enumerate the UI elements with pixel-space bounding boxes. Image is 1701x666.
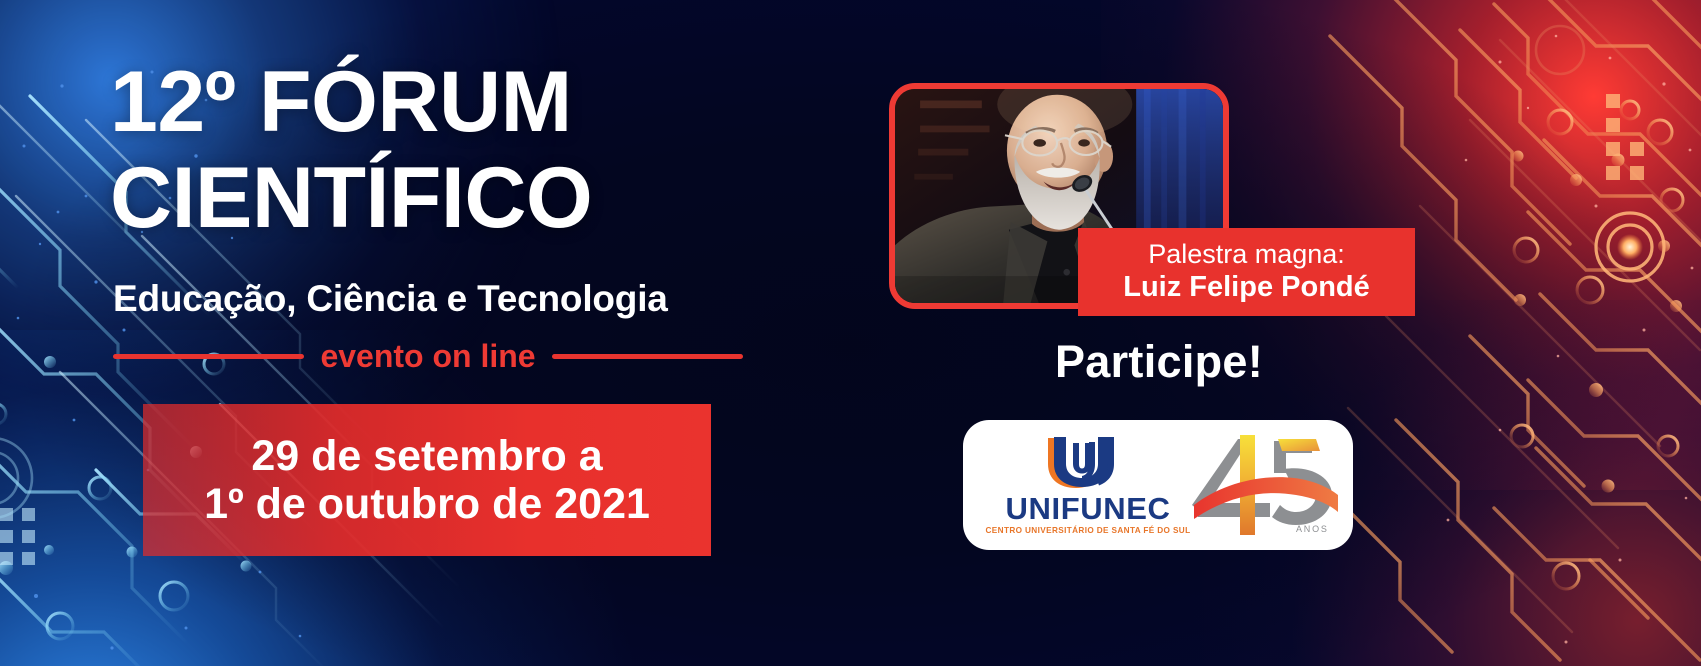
institution-logo-card: UNIFUNEC CENTRO UNIVERSITÁRIO DE SANTA F… [963,420,1353,550]
event-title-line-1: 12º FÓRUM [110,60,572,144]
unifunec-tagline: CENTRO UNIVERSITÁRIO DE SANTA FÉ DO SUL [986,527,1191,535]
event-date-line-2: 1º de outubro de 2021 [204,480,650,528]
event-headline-block: 12º FÓRUM CIENTÍFICO Educação, Ciência e… [0,0,760,666]
speaker-name-tag: Palestra magna: Luiz Felipe Pondé [1078,228,1415,316]
event-promo-banner: 12º FÓRUM CIENTÍFICO Educação, Ciência e… [0,0,1701,666]
unifunec-u-mark-icon [1040,434,1136,490]
event-subtitle: Educação, Ciência e Tecnologia [113,278,668,320]
divider-rule-right [552,354,743,359]
anniversary-anos-label: ANOS [1296,524,1329,534]
anniversary-45-badge: ANOS [1192,433,1340,537]
speaker-name: Luiz Felipe Pondé [1123,272,1370,304]
event-date-box: 29 de setembro a 1º de outubro de 2021 [143,404,711,556]
speaker-role-label: Palestra magna: [1148,240,1345,270]
event-date-line-1: 29 de setembro a [251,432,602,480]
unifunec-logo: UNIFUNEC CENTRO UNIVERSITÁRIO DE SANTA F… [986,434,1191,535]
modality-label: evento on line [320,338,535,375]
unifunec-wordmark: UNIFUNEC [1006,493,1171,524]
call-to-action-text: Participe! [889,336,1429,388]
modality-row: evento on line [113,332,743,380]
event-title-line-2: CIENTÍFICO [110,156,592,240]
divider-rule-left [113,354,304,359]
